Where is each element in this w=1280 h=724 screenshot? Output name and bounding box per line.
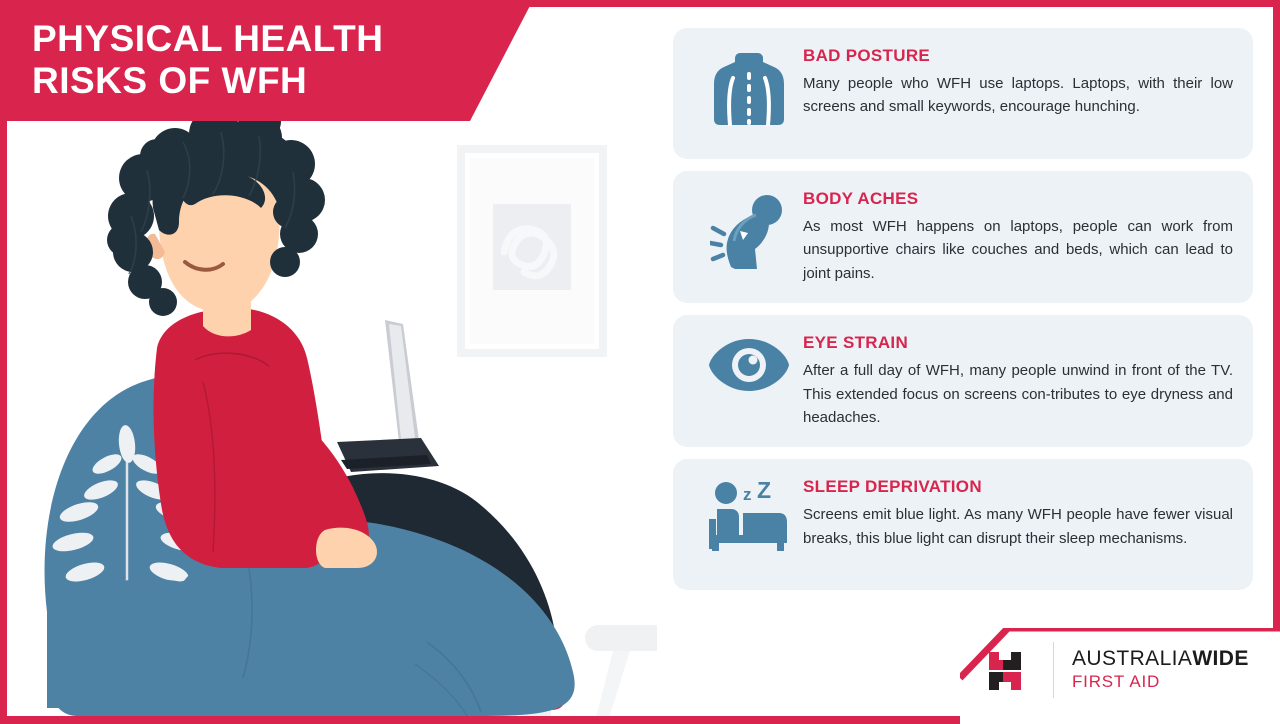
wfh-illustration [7,112,657,716]
illustration-stage [7,112,657,716]
svg-text:Z: Z [757,481,771,503]
posture-back-icon [695,44,803,126]
infographic-page: PHYSICAL HEALTH RISKS OF WFH [0,0,1280,724]
card-text: Screens emit blue light. As many WFH peo… [803,503,1233,550]
brand-name-part2: WIDE [1192,647,1248,670]
card-body: EYE STRAIN After a full day of WFH, many… [803,331,1233,429]
card-body: BAD POSTURE Many people who WFH use lapt… [803,44,1233,119]
body-ache-icon [695,187,803,269]
eye-icon [695,331,803,393]
logo-divider [1053,642,1054,698]
card-title: EYE STRAIN [803,333,1233,353]
svg-text:z: z [743,485,752,504]
picture-frame-icon [457,145,607,357]
sleep-bed-icon: z Z [695,475,803,551]
card-text: Many people who WFH use laptops. Laptops… [803,72,1233,119]
logo-wordmark: AUSTRALIAWIDE FIRST AID [1072,648,1249,691]
card-eye-strain[interactable]: EYE STRAIN After a full day of WFH, many… [673,315,1253,447]
card-bad-posture[interactable]: BAD POSTURE Many people who WFH use lapt… [673,28,1253,159]
card-title: SLEEP DEPRIVATION [803,477,1233,497]
frame-border-right [1273,0,1280,724]
card-body-aches[interactable]: BODY ACHES As most WFH happens on laptop… [673,171,1253,303]
card-text: After a full day of WFH, many people unw… [803,359,1233,429]
card-title: BAD POSTURE [803,46,1233,66]
card-title: BODY ACHES [803,189,1233,209]
bench-icon [585,625,657,716]
risk-cards-list: BAD POSTURE Many people who WFH use lapt… [673,28,1253,590]
brand-name-part1: AUSTRALIA [1072,647,1192,670]
laptop-icon [337,320,439,472]
card-body: SLEEP DEPRIVATION Screens emit blue ligh… [803,475,1233,550]
card-body: BODY ACHES As most WFH happens on laptop… [803,187,1233,285]
page-title: PHYSICAL HEALTH RISKS OF WFH [32,18,502,102]
frame-border-left [0,112,7,724]
card-text: As most WFH happens on laptops, people c… [803,215,1233,285]
footer-logo[interactable]: AUSTRALIAWIDE FIRST AID [953,620,1273,716]
brand-tagline: FIRST AID [1072,673,1249,691]
cross-quadrant-logo-icon [983,644,1035,696]
card-sleep-deprivation[interactable]: z Z SLEEP DEPRIVATION Screens emit blue … [673,459,1253,590]
